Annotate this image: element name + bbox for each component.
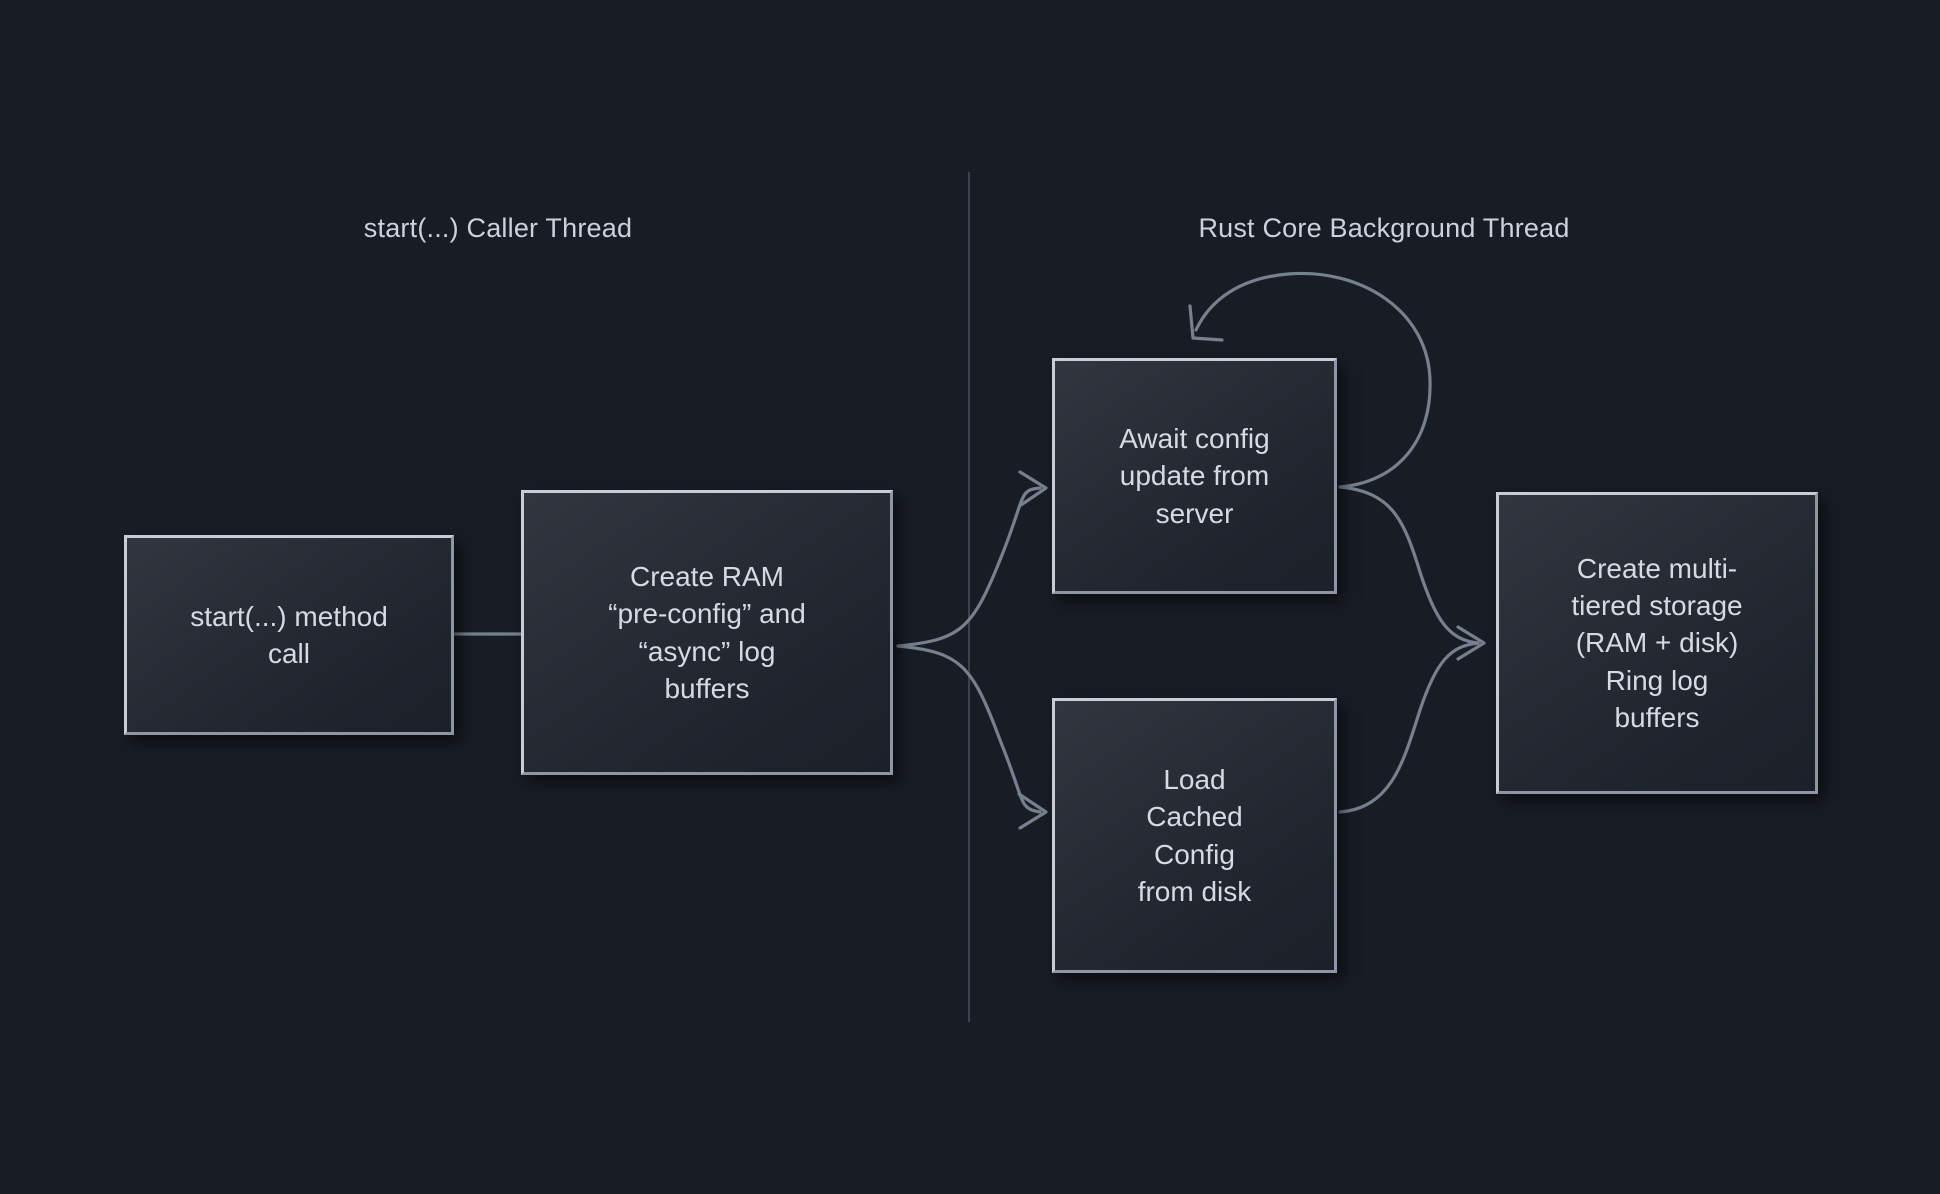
node-label: Create RAM “pre-config” and “async” log … [598,558,816,707]
node-create-multi-tiered-storage[interactable]: Create multi- tiered storage (RAM + disk… [1496,492,1818,794]
edge-await-config-to-storage [1340,487,1478,643]
node-label: Create multi- tiered storage (RAM + disk… [1561,550,1752,736]
edge-load-cached-to-storage [1340,627,1484,812]
node-start-method-call[interactable]: start(...) method call [124,535,454,735]
node-load-cached-config[interactable]: Load Cached Config from disk [1052,698,1337,973]
lane-divider [968,172,970,1022]
edge-create-ram-to-await-config [898,472,1046,646]
node-create-ram-buffers[interactable]: Create RAM “pre-config” and “async” log … [521,490,893,775]
node-await-config-update[interactable]: Await config update from server [1052,358,1337,594]
edge-create-ram-to-load-cached [898,646,1046,828]
lane-label-caller-thread: start(...) Caller Thread [364,213,632,244]
node-label: start(...) method call [180,598,398,672]
lane-label-rust-core-background-thread: Rust Core Background Thread [1198,213,1569,244]
node-label: Await config update from server [1109,420,1279,532]
node-label: Load Cached Config from disk [1128,761,1262,910]
diagram-canvas: start(...) Caller Thread Rust Core Backg… [0,0,1940,1194]
